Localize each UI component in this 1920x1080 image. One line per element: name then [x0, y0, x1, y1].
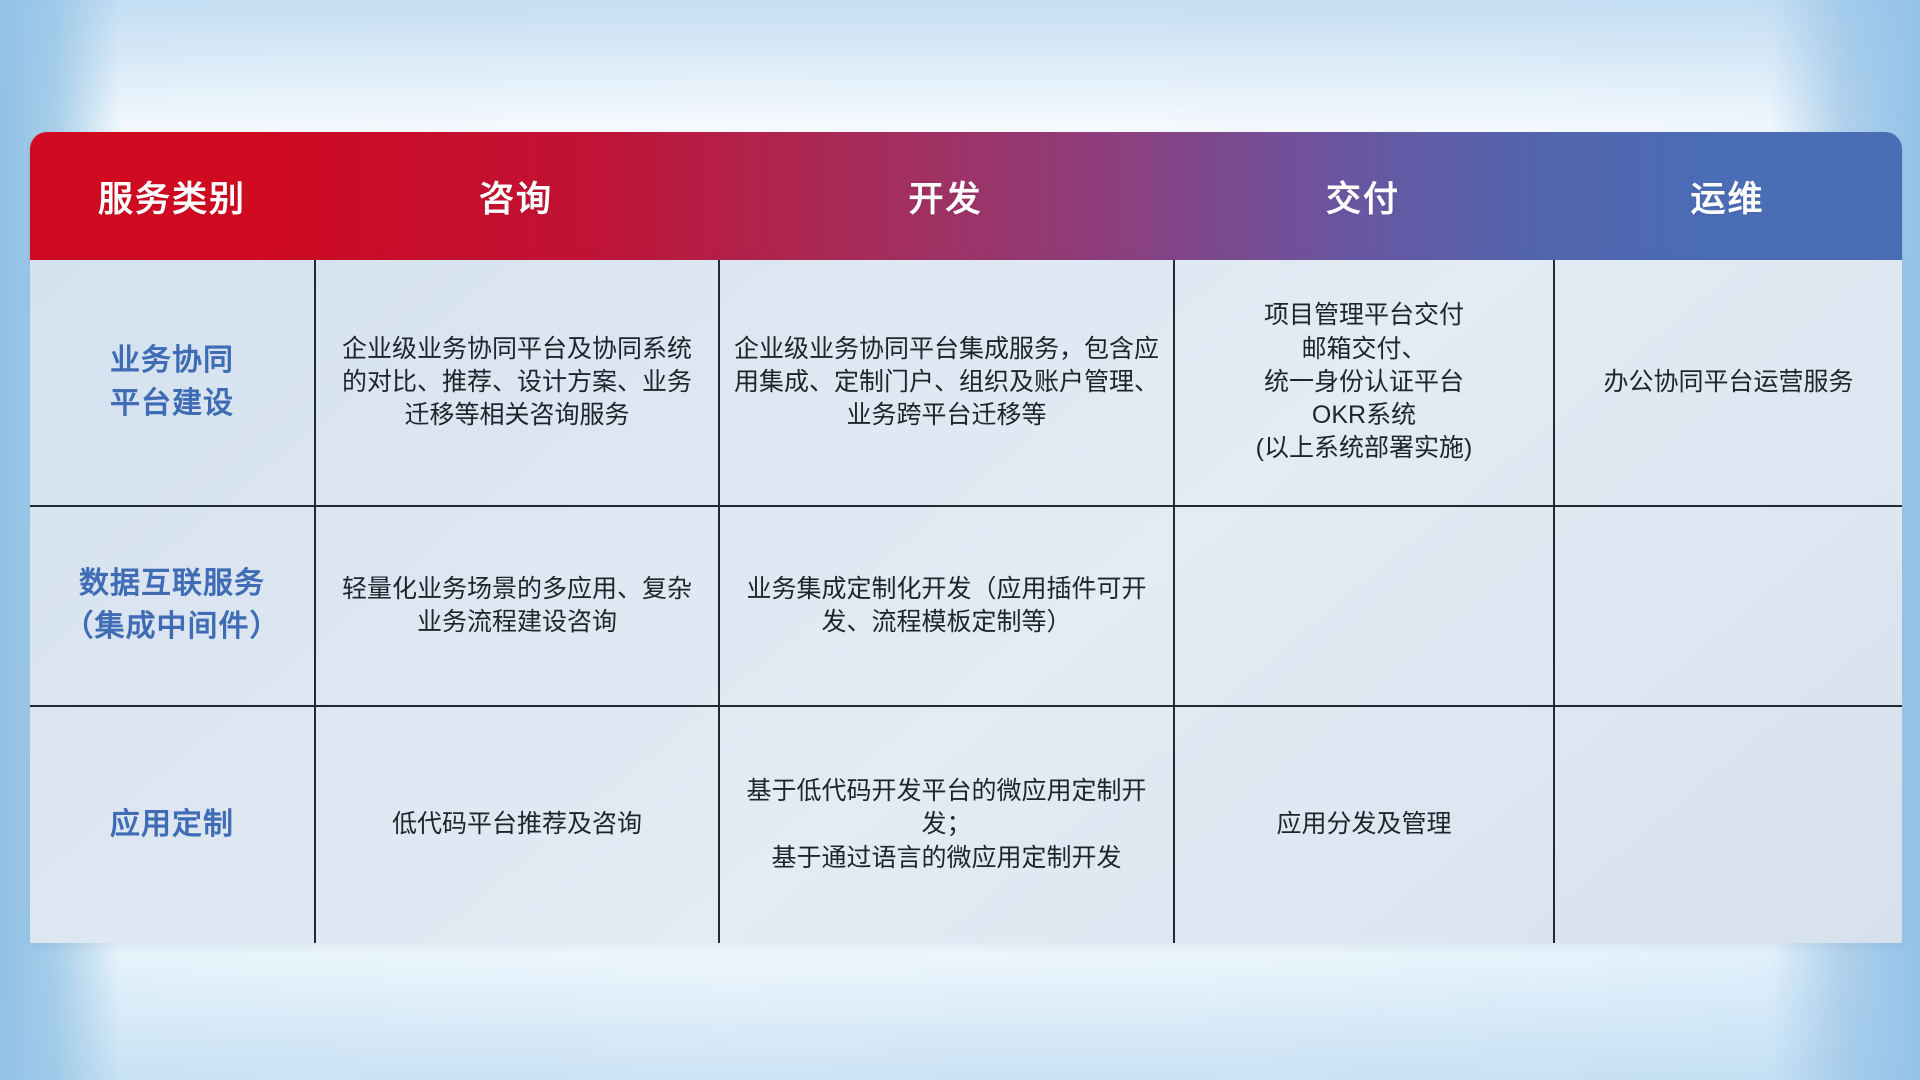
- column-header-delivery: 交付: [1173, 132, 1553, 260]
- cell-development: 企业级业务协同平台集成服务，包含应用集成、定制门户、组织及账户管理、业务跨平台迁…: [718, 260, 1173, 505]
- table-body: 业务协同 平台建设 企业级业务协同平台及协同系统的对比、推荐、设计方案、业务迁移…: [30, 260, 1902, 943]
- cell-consulting: 企业级业务协同平台及协同系统的对比、推荐、设计方案、业务迁移等相关咨询服务: [314, 260, 718, 505]
- row-category-label: 应用定制: [30, 705, 314, 943]
- cell-development: 业务集成定制化开发（应用插件可开发、流程模板定制等）: [718, 505, 1173, 705]
- cell-delivery: [1173, 505, 1553, 705]
- cell-development: 基于低代码开发平台的微应用定制开发； 基于通过语言的微应用定制开发: [718, 705, 1173, 943]
- column-header-consulting: 咨询: [314, 132, 718, 260]
- table-row: 应用定制 低代码平台推荐及咨询 基于低代码开发平台的微应用定制开发； 基于通过语…: [30, 705, 1902, 943]
- cell-operations: [1553, 505, 1902, 705]
- cell-consulting: 低代码平台推荐及咨询: [314, 705, 718, 943]
- cell-delivery: 项目管理平台交付 邮箱交付、 统一身份认证平台 OKR系统 (以上系统部署实施): [1173, 260, 1553, 505]
- row-category-label: 业务协同 平台建设: [30, 260, 314, 505]
- table-row: 业务协同 平台建设 企业级业务协同平台及协同系统的对比、推荐、设计方案、业务迁移…: [30, 260, 1902, 505]
- service-matrix-table: 服务类别 咨询 开发 交付 运维 业务协同 平台建设 企业级业务协同平台及协同系…: [30, 132, 1902, 943]
- cell-consulting: 轻量化业务场景的多应用、复杂业务流程建设咨询: [314, 505, 718, 705]
- table-header-row: 服务类别 咨询 开发 交付 运维: [30, 132, 1902, 260]
- row-category-label: 数据互联服务 （集成中间件）: [30, 505, 314, 705]
- column-header-category: 服务类别: [30, 132, 314, 260]
- cell-operations: 办公协同平台运营服务: [1553, 260, 1902, 505]
- cell-operations: [1553, 705, 1902, 943]
- table-row: 数据互联服务 （集成中间件） 轻量化业务场景的多应用、复杂业务流程建设咨询 业务…: [30, 505, 1902, 705]
- cell-delivery: 应用分发及管理: [1173, 705, 1553, 943]
- column-header-operations: 运维: [1553, 132, 1902, 260]
- column-header-development: 开发: [718, 132, 1173, 260]
